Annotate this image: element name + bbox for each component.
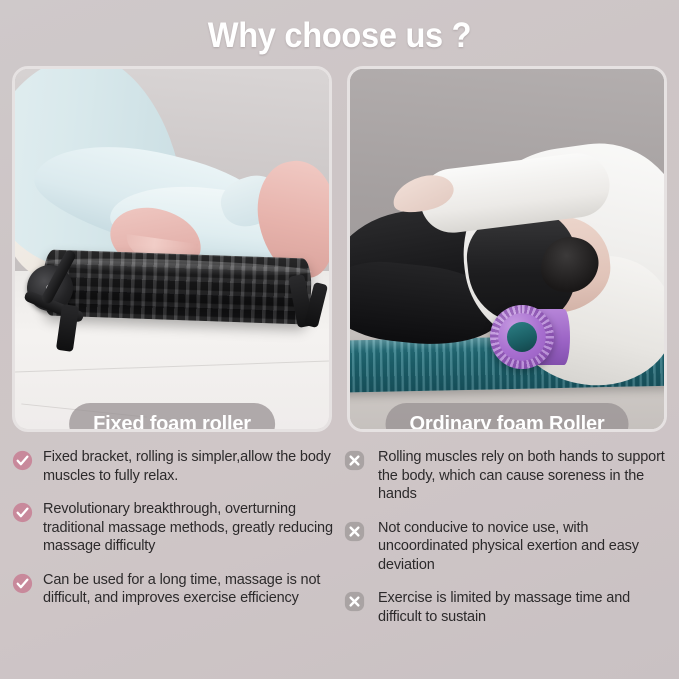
- infographic-page: Why choose us ?: [0, 0, 679, 679]
- cross-square-icon: [344, 450, 365, 471]
- cross-square-icon: [344, 591, 365, 612]
- purple-foam-roller: [490, 305, 554, 369]
- caption-ordinary-foam-roller: Ordinary foam Roller: [386, 403, 629, 432]
- benefit-lists: Fixed bracket, rolling is simpler,allow …: [12, 448, 667, 626]
- list-item-text: Exercise is limited by massage time and …: [375, 589, 667, 626]
- cross-square-icon: [344, 521, 365, 542]
- list-item: Rolling muscles rely on both hands to su…: [344, 448, 667, 504]
- pros-column: Fixed bracket, rolling is simpler,allow …: [12, 448, 335, 626]
- list-item-text: Fixed bracket, rolling is simpler,allow …: [43, 448, 335, 485]
- list-item-text: Can be used for a long time, massage is …: [43, 571, 335, 608]
- check-circle-icon: [12, 573, 33, 594]
- list-item: Fixed bracket, rolling is simpler,allow …: [12, 448, 335, 485]
- comparison-panels: Fixed foam roller Ordi: [12, 66, 667, 432]
- product-photo-fixed-roller: [15, 69, 329, 429]
- product-photo-ordinary-roller: [350, 69, 664, 429]
- list-item-text: Revolutionary breakthrough, overturning …: [43, 500, 335, 556]
- list-item: Can be used for a long time, massage is …: [12, 571, 335, 608]
- list-item-text: Not conducive to novice use, with uncoor…: [375, 519, 667, 575]
- cons-column: Rolling muscles rely on both hands to su…: [344, 448, 667, 626]
- check-circle-icon: [12, 450, 33, 471]
- list-item: Not conducive to novice use, with uncoor…: [344, 519, 667, 575]
- check-circle-icon: [12, 502, 33, 523]
- list-item: Revolutionary breakthrough, overturning …: [12, 500, 335, 556]
- list-item: Exercise is limited by massage time and …: [344, 589, 667, 626]
- page-title: Why choose us ?: [24, 14, 655, 58]
- panel-fixed-foam-roller: Fixed foam roller: [12, 66, 332, 432]
- panel-ordinary-foam-roller: Ordinary foam Roller: [347, 66, 667, 432]
- caption-fixed-foam-roller: Fixed foam roller: [69, 403, 275, 432]
- list-item-text: Rolling muscles rely on both hands to su…: [375, 448, 667, 504]
